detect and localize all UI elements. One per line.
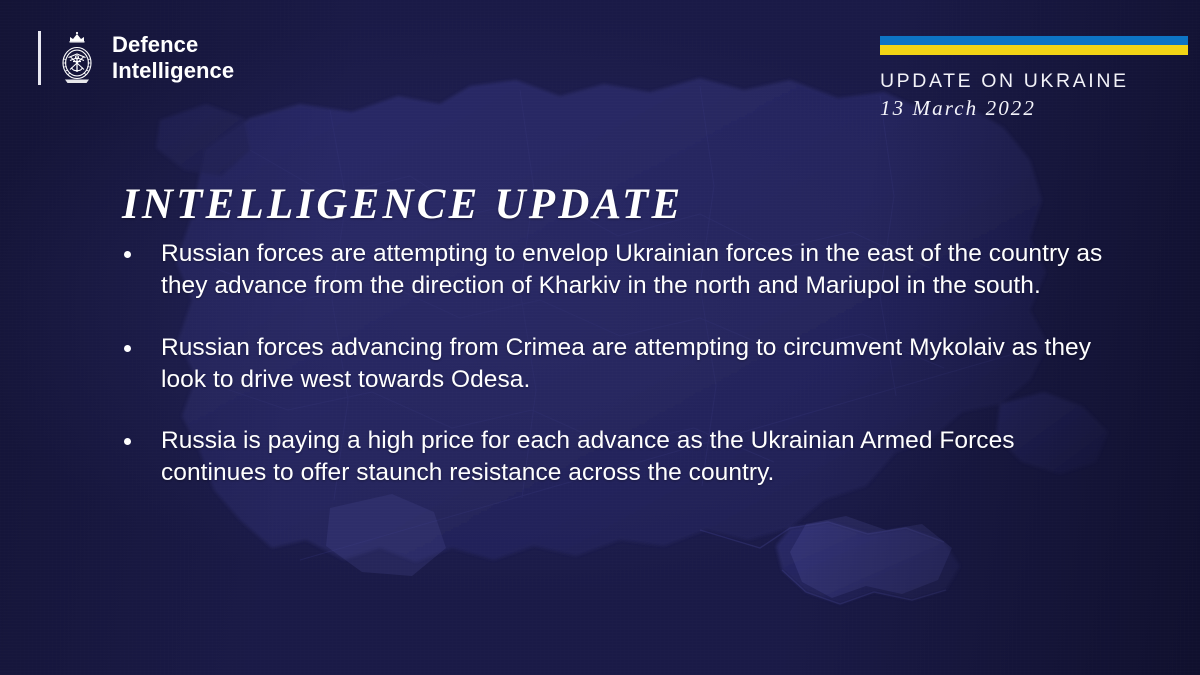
bullet-dot-icon	[124, 251, 131, 258]
brand-divider	[38, 31, 41, 85]
update-kicker: UPDATE ON UKRAINE	[880, 70, 1190, 92]
flag-yellow-stripe	[880, 45, 1188, 55]
intelligence-bullet-list: Russian forces are attempting to envelop…	[124, 238, 1114, 489]
bullet-text: Russia is paying a high price for each a…	[161, 425, 1114, 489]
update-date: 13 March 2022	[880, 96, 1190, 121]
flag-blue-stripe	[880, 36, 1188, 45]
bullet-dot-icon	[124, 345, 131, 352]
slide-content: Defence Intelligence UPDATE ON UKRAINE 1…	[0, 0, 1200, 675]
defence-intelligence-brand: Defence Intelligence	[38, 30, 234, 86]
ukraine-flag-bar-icon	[880, 36, 1188, 55]
brand-line-2: Intelligence	[112, 58, 234, 84]
list-item: Russian forces are attempting to envelop…	[124, 238, 1114, 302]
page-title: INTELLIGENCE UPDATE	[122, 182, 683, 227]
list-item: Russian forces advancing from Crimea are…	[124, 332, 1114, 396]
bullet-text: Russian forces are attempting to envelop…	[161, 238, 1114, 302]
bullet-text: Russian forces advancing from Crimea are…	[161, 332, 1114, 396]
bullet-dot-icon	[124, 438, 131, 445]
update-header: UPDATE ON UKRAINE 13 March 2022	[880, 36, 1190, 122]
mod-defence-intelligence-crest-icon	[55, 30, 99, 86]
brand-line-1: Defence	[112, 32, 234, 58]
intelligence-update-slide: Defence Intelligence UPDATE ON UKRAINE 1…	[0, 0, 1200, 675]
list-item: Russia is paying a high price for each a…	[124, 425, 1114, 489]
brand-wordmark: Defence Intelligence	[112, 32, 234, 84]
